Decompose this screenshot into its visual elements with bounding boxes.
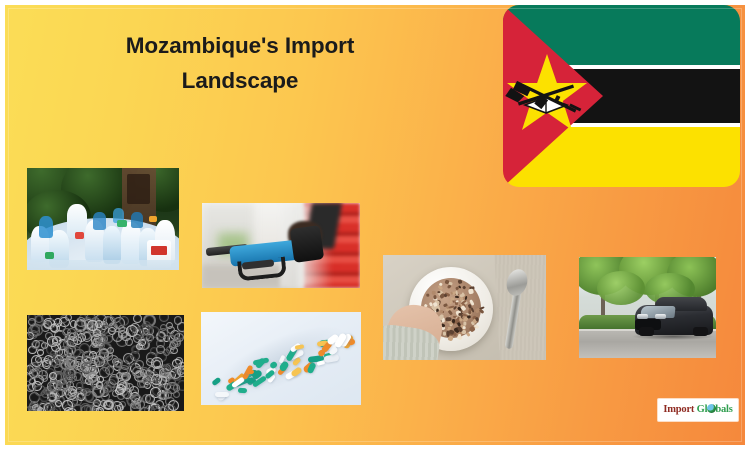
- ring-item: [105, 316, 116, 327]
- ring-item: [125, 355, 136, 366]
- logo-word-import: Import: [663, 404, 694, 415]
- ring-item: [49, 372, 57, 380]
- cereal-bit: [469, 289, 474, 295]
- ring-item: [50, 324, 58, 332]
- image-cereal-bowl: [383, 255, 546, 360]
- page-title: Mozambique's Import Landscape: [65, 29, 415, 99]
- ring-item: [121, 332, 131, 342]
- logo-word-globals-start: Gl: [697, 404, 708, 415]
- ring-item: [67, 328, 77, 338]
- ring-item: [139, 379, 148, 388]
- ring-item: [81, 405, 91, 412]
- ring-item: [48, 358, 57, 367]
- cereal-bit: [462, 285, 466, 289]
- image-pharmaceutical-pills: [201, 312, 361, 405]
- ring-item: [158, 407, 168, 411]
- cereal-bit: [449, 300, 452, 304]
- ring-item: [76, 382, 84, 390]
- pill-item: [214, 392, 228, 397]
- image-fuel-nozzle: [202, 203, 360, 288]
- cereal-bit: [478, 309, 484, 315]
- ring-item: [73, 372, 82, 381]
- cereal-bit: [462, 326, 465, 329]
- ring-item: [173, 384, 180, 391]
- ring-item: [32, 367, 43, 378]
- ring-item: [103, 400, 113, 410]
- ring-item: [177, 322, 184, 332]
- ring-item: [96, 381, 104, 389]
- ring-item: [47, 381, 57, 391]
- pill-item: [290, 366, 302, 377]
- image-metal-rings: [27, 315, 184, 411]
- ring-item: [145, 335, 154, 344]
- cereal-bit: [442, 332, 445, 336]
- ring-item: [148, 375, 155, 382]
- ring-item: [170, 347, 178, 355]
- ring-item: [64, 407, 74, 411]
- cereal-bit: [466, 332, 471, 337]
- ring-item: [170, 340, 177, 347]
- pill-item: [238, 388, 247, 393]
- cereal-bit: [448, 310, 453, 315]
- cereal-bit: [450, 326, 454, 330]
- cereal-bit: [458, 280, 463, 285]
- mozambique-flag: [503, 5, 740, 187]
- ring-item: [133, 315, 142, 323]
- ring-item: [31, 355, 43, 367]
- pill-item: [295, 344, 305, 350]
- ring-item: [66, 356, 78, 368]
- ring-item: [47, 336, 58, 347]
- ring-item: [117, 404, 124, 411]
- import-globals-logo[interactable]: Import Glbals: [658, 399, 738, 421]
- ring-item: [99, 336, 106, 343]
- ring-item: [28, 318, 36, 326]
- ring-item: [173, 391, 180, 398]
- cereal-bit: [437, 291, 440, 293]
- cereal-bit: [426, 294, 430, 297]
- logo-word-globals-end: bals: [715, 404, 732, 415]
- ring-item: [165, 397, 174, 406]
- cereal-bit: [432, 290, 436, 294]
- image-car: [579, 257, 716, 358]
- cereal-bit: [455, 296, 459, 299]
- mozambique-flag-svg: [503, 5, 740, 187]
- pill-item: [211, 377, 221, 387]
- cereal-bit: [440, 310, 444, 313]
- ring-item: [167, 326, 175, 334]
- image-plastic-bottles: [27, 168, 179, 270]
- ring-item: [145, 394, 154, 403]
- ring-item: [35, 315, 43, 323]
- ring-item: [151, 357, 163, 369]
- ring-item: [37, 407, 45, 411]
- ring-item: [119, 316, 129, 326]
- ring-item: [94, 356, 105, 367]
- ring-item: [159, 315, 169, 322]
- cereal-bit: [438, 284, 443, 289]
- ring-item: [116, 372, 123, 379]
- slide-canvas: Mozambique's Import Landscape: [5, 5, 745, 445]
- ring-item: [132, 366, 144, 378]
